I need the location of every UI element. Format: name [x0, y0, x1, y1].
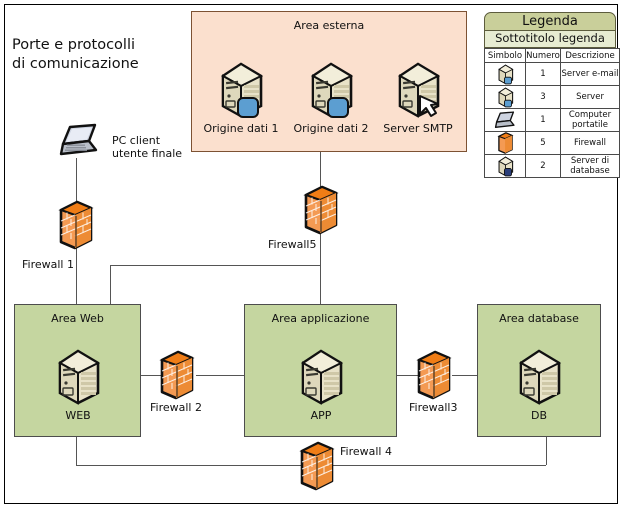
node-label: Origine dati 1 [203, 122, 278, 135]
legend-symbol-cell [485, 155, 526, 178]
legend-count: 3 [526, 86, 561, 109]
node-firewall-1[interactable] [55, 200, 97, 250]
node-server-smtp[interactable]: Server SMTP [392, 58, 444, 120]
node-label: DB [531, 409, 547, 422]
node-web-server[interactable]: WEB [52, 345, 104, 407]
legend-description: Server di database [561, 155, 620, 178]
zone-title: Area database [478, 312, 600, 325]
firewall-icon [413, 350, 455, 400]
node-db-server[interactable]: DB [513, 345, 565, 407]
connector-fw2-app [196, 375, 244, 376]
node-firewall-3[interactable] [413, 350, 455, 400]
node-firewall-4[interactable] [296, 441, 338, 491]
server-mail-icon [305, 58, 357, 120]
node-origine-dati-1[interactable]: Origine dati 1 [215, 58, 267, 120]
server-mail-icon [495, 63, 516, 85]
firewall-icon [300, 185, 342, 235]
node-origine-dati-2[interactable]: Origine dati 2 [305, 58, 357, 120]
legend-count: 5 [526, 132, 561, 155]
firewall-icon [156, 350, 198, 400]
node-firewall-2[interactable] [156, 350, 198, 400]
firewall-icon [496, 132, 515, 154]
connector-bus-upper-drop [110, 265, 111, 304]
legend-description: Computer portatile [561, 109, 620, 132]
diagram-canvas: Porte e protocolli di comunicazione Area… [0, 0, 624, 509]
connector-bus-upper [110, 265, 321, 266]
node-label: APP [311, 409, 332, 422]
laptop-icon [494, 111, 516, 130]
legend-col-simbolo: Simbolo [485, 49, 526, 63]
legend-col-numero: Numero [526, 49, 561, 63]
legend-row: 1 Computer portatile [485, 109, 620, 132]
connector-ext-fw5 [320, 152, 321, 188]
legend-subheader: Sottotitolo legenda [484, 31, 616, 48]
server-db-icon [513, 345, 565, 407]
legend-symbol-cell [485, 63, 526, 86]
legend-row: 1 Server e-mail [485, 63, 620, 86]
firewall-icon [55, 200, 97, 250]
server-db-icon [495, 155, 516, 177]
firewall-4-label: Firewall 4 [340, 445, 392, 458]
server-smtp-icon [392, 58, 444, 120]
firewall-3-label: Firewall3 [409, 401, 457, 414]
legend-description: Firewall [561, 132, 620, 155]
server-icon [52, 345, 104, 407]
node-app-server[interactable]: APP [295, 345, 347, 407]
legend-row: 5 Firewall [485, 132, 620, 155]
page-title: Porte e protocolli di comunicazione [12, 36, 139, 74]
legend-count: 1 [526, 109, 561, 132]
laptop-icon [58, 124, 100, 158]
legend-header: Legenda [484, 12, 616, 31]
legend-row: 3 Server [485, 86, 620, 109]
firewall-icon [296, 441, 338, 491]
node-label: WEB [65, 409, 90, 422]
legend: Legenda Sottotitolo legenda Simbolo Nume… [484, 12, 616, 178]
node-firewall-5[interactable] [300, 185, 342, 235]
zone-title: Area Web [15, 312, 140, 325]
server-icon [495, 86, 516, 108]
node-label: Origine dati 2 [293, 122, 368, 135]
legend-symbol-cell [485, 132, 526, 155]
legend-row: 2 Server di database [485, 155, 620, 178]
legend-description: Server [561, 86, 620, 109]
legend-description: Server e-mail [561, 63, 620, 86]
server-mail-icon [215, 58, 267, 120]
node-pc-client[interactable] [58, 124, 100, 158]
connector-web-bottom [76, 437, 77, 465]
connector-fw3-db [452, 375, 477, 376]
legend-col-descrizione: Descrizione [561, 49, 620, 63]
connector-client-fw1 [76, 158, 77, 203]
firewall-2-label: Firewall 2 [150, 401, 202, 414]
connector-fw5-app [320, 232, 321, 304]
legend-count: 1 [526, 63, 561, 86]
legend-count: 2 [526, 155, 561, 178]
pc-client-label: PC client utente finale [112, 134, 182, 160]
firewall-1-label: Firewall 1 [22, 258, 74, 271]
external-area-title: Area esterna [192, 19, 466, 32]
legend-symbol-cell [485, 86, 526, 109]
connector-db-bottom [546, 437, 547, 465]
legend-symbol-cell [485, 109, 526, 132]
server-icon [295, 345, 347, 407]
legend-header-row: Simbolo Numero Descrizione [485, 49, 620, 63]
firewall-5-label: Firewall5 [268, 238, 316, 251]
node-label: Server SMTP [383, 122, 452, 135]
connector-fw1-web [76, 248, 77, 304]
legend-table: Simbolo Numero Descrizione 1 Server e-ma… [484, 48, 620, 178]
zone-title: Area applicazione [245, 312, 396, 325]
